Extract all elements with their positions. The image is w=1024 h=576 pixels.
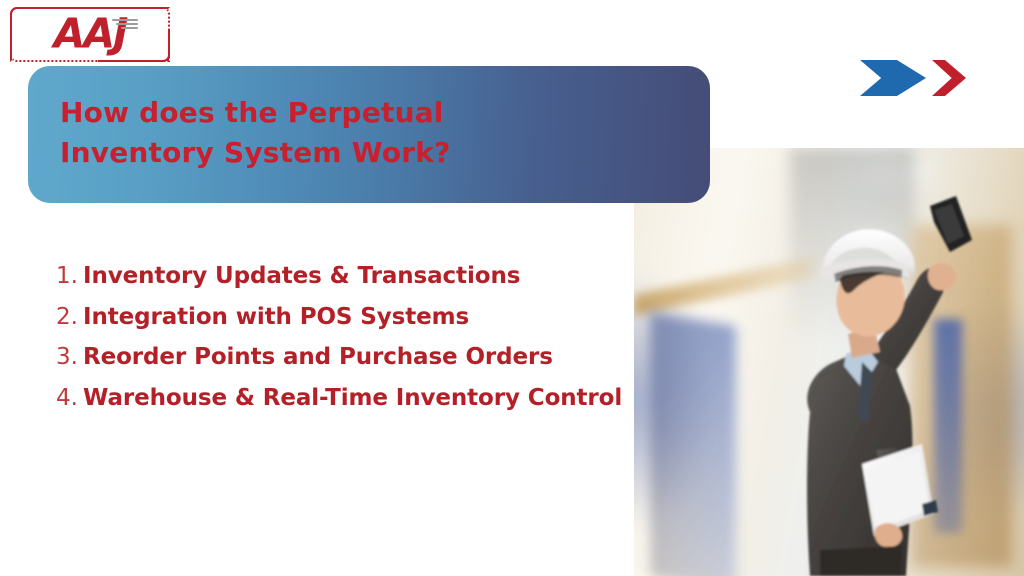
list-item: 1. Inventory Updates & Transactions <box>56 261 636 293</box>
list-item-label: Warehouse & Real-Time Inventory Control <box>83 383 622 415</box>
list-item: 4. Warehouse & Real-Time Inventory Contr… <box>56 383 636 415</box>
warehouse-inventory-photo <box>634 148 1024 576</box>
list-item: 3. Reorder Points and Purchase Orders <box>56 342 636 374</box>
list-item-label: Reorder Points and Purchase Orders <box>83 342 553 374</box>
blue-arrow-icon <box>860 60 926 96</box>
list-item-label: Inventory Updates & Transactions <box>83 261 520 293</box>
steps-list: 1. Inventory Updates & Transactions 2. I… <box>56 261 636 424</box>
list-item-number: 1. <box>56 261 83 293</box>
page-title-line-2: Inventory System Work? <box>60 133 451 173</box>
list-item: 2. Integration with POS Systems <box>56 302 636 334</box>
slide-canvas: AAJ <box>0 0 1024 576</box>
aaj-logo[interactable]: AAJ <box>10 7 170 62</box>
page-title: How does the Perpetual Inventory System … <box>28 93 451 177</box>
list-item-number: 3. <box>56 342 83 374</box>
list-item-label: Integration with POS Systems <box>83 302 469 334</box>
list-item-number: 2. <box>56 302 83 334</box>
arrow-decoration <box>860 58 966 98</box>
photo-worker-figure <box>634 148 1024 576</box>
list-item-number: 4. <box>56 383 83 415</box>
logo-wordmark: AAJ <box>54 13 127 54</box>
page-title-line-1: How does the Perpetual <box>60 93 451 133</box>
red-arrow-icon <box>932 60 966 96</box>
title-banner: How does the Perpetual Inventory System … <box>28 66 710 203</box>
